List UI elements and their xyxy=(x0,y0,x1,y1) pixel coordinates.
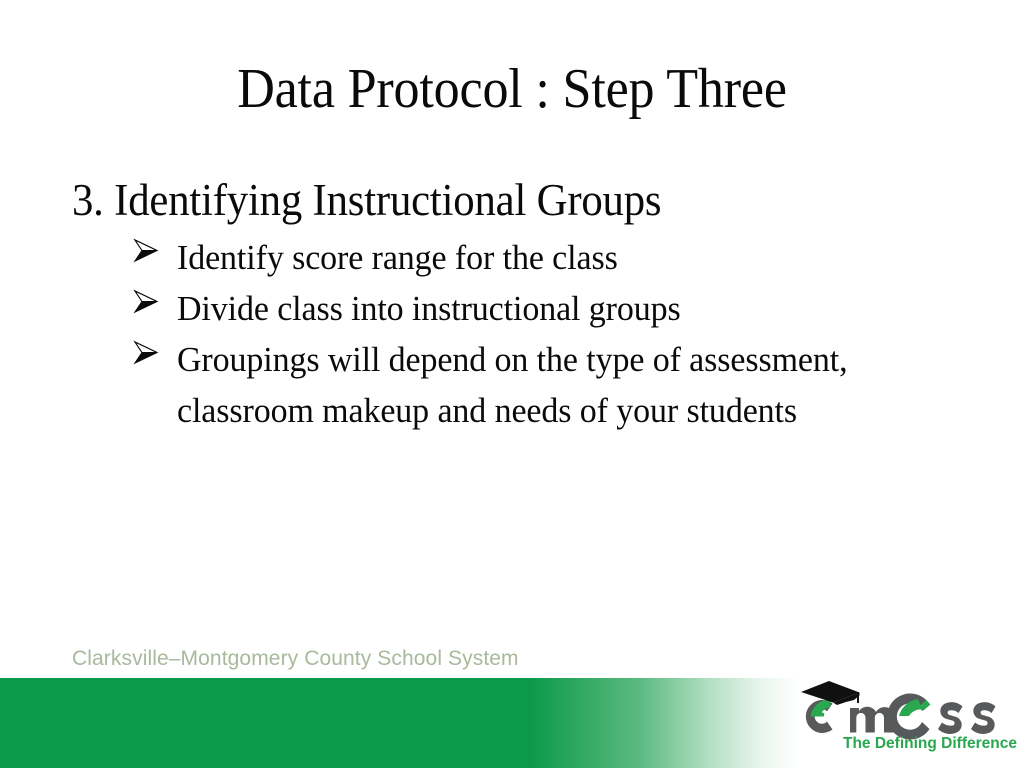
logo-tagline: The Defining Difference xyxy=(843,735,1017,752)
list-item-text: Divide class into instructional groups xyxy=(177,283,943,334)
graduation-cap-icon xyxy=(801,681,860,705)
logo-letter-c2 xyxy=(887,694,930,740)
logo-letter-s2 xyxy=(971,702,996,734)
body-heading: 3. Identifying Instructional Groups xyxy=(72,172,927,228)
arrowhead-bullet-icon xyxy=(130,233,164,267)
arrowhead-bullet-icon xyxy=(130,335,164,369)
list-item: Identify score range for the class xyxy=(72,232,967,283)
slide-body: 3. Identifying Instructional Groups Iden… xyxy=(72,172,972,436)
list-item-text: Identify score range for the class xyxy=(177,232,943,283)
presentation-slide: Data Protocol : Step Three 3. Identifyin… xyxy=(0,0,1024,768)
list-item-text: Groupings will depend on the type of ass… xyxy=(177,334,943,436)
logo-letter-s1 xyxy=(938,702,963,734)
cmcss-logo: The Defining Difference xyxy=(793,679,1024,757)
logo-letter-c1 xyxy=(806,699,833,733)
arrowhead-bullet-icon xyxy=(130,284,164,318)
logo-letter-m xyxy=(850,707,894,733)
list-item: Divide class into instructional groups xyxy=(72,283,967,334)
list-item: Groupings will depend on the type of ass… xyxy=(72,334,967,436)
bullet-list: Identify score range for the class Divid… xyxy=(72,232,972,436)
slide-title: Data Protocol : Step Three xyxy=(36,58,988,120)
footer-caption: Clarksville–Montgomery County School Sys… xyxy=(72,646,519,672)
